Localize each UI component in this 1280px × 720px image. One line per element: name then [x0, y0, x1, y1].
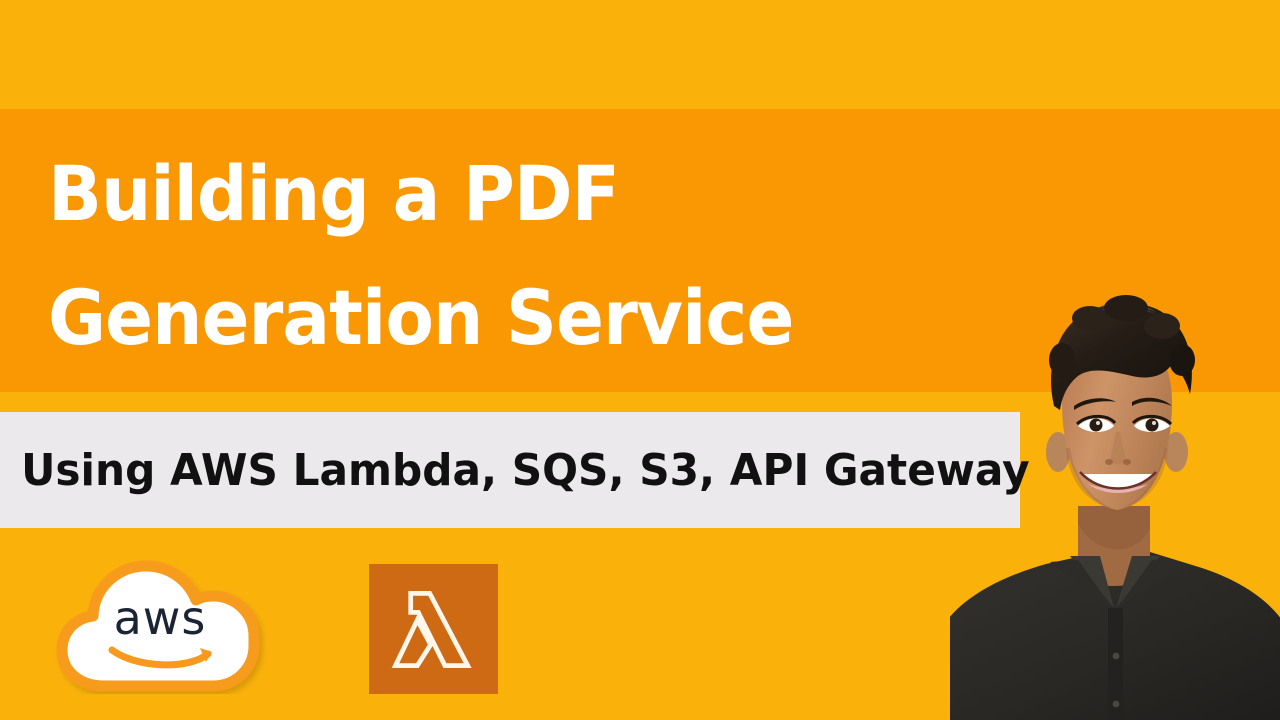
svg-text:aws: aws	[114, 591, 207, 645]
slide-canvas: Building a PDF Generation Service Using …	[0, 0, 1280, 720]
aws-cloud-icon: aws	[48, 558, 272, 694]
subtitle-bar: Using AWS Lambda, SQS, S3, API Gateway	[0, 412, 1020, 528]
subtitle-text: Using AWS Lambda, SQS, S3, API Gateway	[0, 445, 1030, 496]
presenter-photo	[950, 256, 1280, 720]
title-line-2: Generation Service	[48, 256, 885, 380]
slide-title: Building a PDF Generation Service	[48, 132, 948, 380]
aws-lambda-icon	[369, 564, 498, 694]
top-yellow-band	[0, 0, 1280, 109]
title-line-1: Building a PDF	[48, 132, 885, 256]
